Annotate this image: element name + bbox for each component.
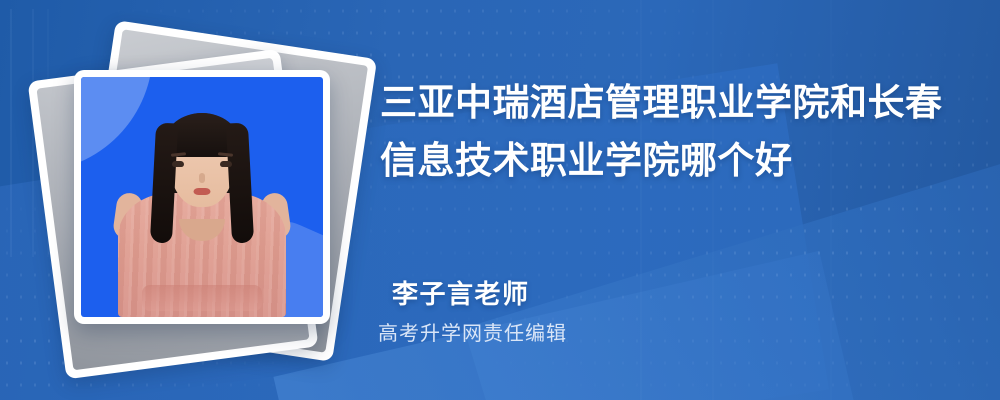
portrait-eye-right [220, 161, 232, 167]
portrait-dress-waist [142, 285, 262, 311]
author-name: 李子言老师 [392, 274, 530, 311]
page-title: 三亚中瑞酒店管理职业学院和长春信息技术职业学院哪个好 [380, 74, 960, 190]
portrait-figure [109, 99, 295, 317]
portrait-nose [199, 173, 205, 183]
photo-card-front [74, 70, 330, 324]
text-column: 三亚中瑞酒店管理职业学院和长春信息技术职业学院哪个好 李子言老师 高考升学网责任… [378, 0, 978, 400]
promo-banner: 三亚中瑞酒店管理职业学院和长春信息技术职业学院哪个好 李子言老师 高考升学网责任… [0, 0, 1000, 400]
author-role: 高考升学网责任编辑 [378, 317, 567, 346]
photo-card-stack [40, 24, 360, 374]
author-photo [81, 77, 323, 317]
portrait-mouth [194, 188, 211, 195]
portrait-eye-left [172, 161, 184, 167]
